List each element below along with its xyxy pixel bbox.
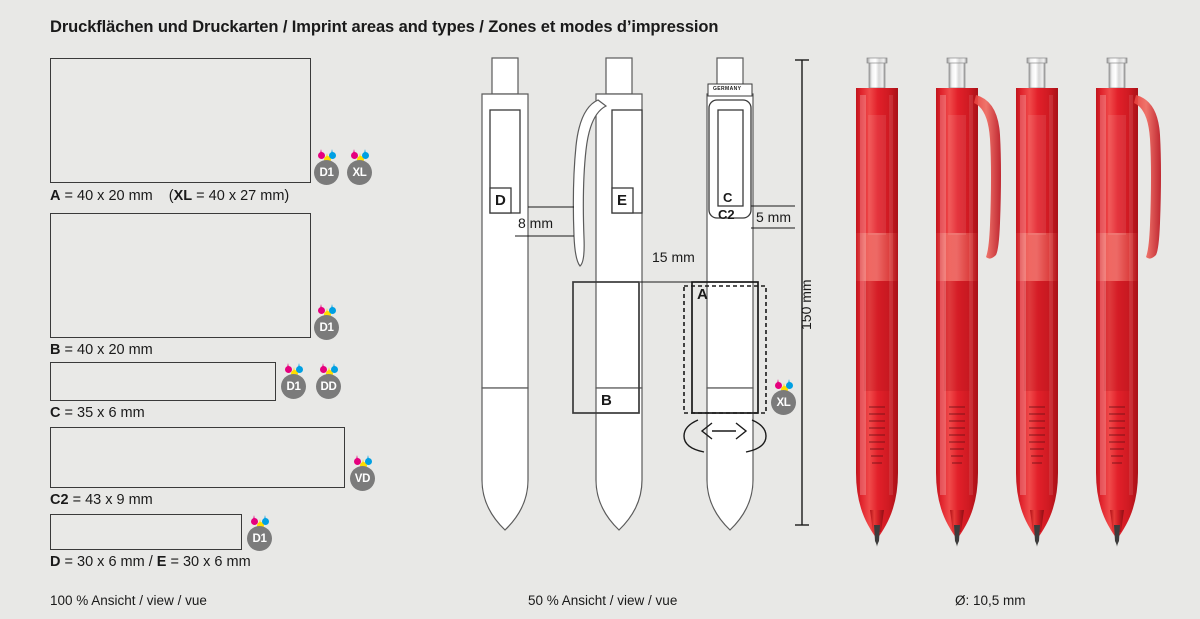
droplet-cyan-icon [329,304,336,314]
label-a-dims: = 40 x 20 mm [60,188,152,204]
dimension-15mm: 15 mm [652,249,695,265]
left-panel-100-percent: A = 40 x 20 mm(XL = 40 x 27 mm) D1 XL B … [0,0,430,619]
label-c-dims: = 35 x 6 mm [60,405,144,421]
label-xl: XL [174,188,193,204]
footer-diameter: Ø: 10,5 mm [955,593,1026,608]
imprint-area-a-caption: A = 40 x 20 mm(XL = 40 x 27 mm) [50,188,289,204]
pen-line-drawings [440,0,840,619]
droplet-cyan-icon [296,363,303,373]
product-render-pen-side-clip-2 [1096,58,1161,547]
label-d: D [50,554,60,570]
red-pen-renders [840,0,1200,619]
area-a-label: A [697,286,708,303]
badge-label: VD [350,466,375,491]
badge-label: D1 [281,374,306,399]
pen3-area-c-label: C [723,190,732,205]
badge-label: DD [316,374,341,399]
pen3-area-c2-label: C2 [718,207,735,222]
imprint-area-c-caption: C = 35 x 6 mm [50,405,145,421]
droplet-cyan-icon [786,379,793,389]
pen2-area-e-label: E [617,192,627,209]
droplet-cyan-icon [262,515,269,525]
label-xl-dims: = 40 x 27 mm) [192,188,289,204]
area-b-label: B [601,392,612,409]
imprint-area-c2-caption: C2 = 43 x 9 mm [50,492,153,508]
badge-xl-area-a[interactable]: XL [347,149,377,185]
product-render-pen-side-clip [936,58,1001,547]
imprint-area-c2-box [50,427,345,488]
label-e-dims: = 30 x 6 mm [166,554,250,570]
footer-scale-100: 100 % Ansicht / view / vue [50,593,207,608]
product-render-pen-back [1016,58,1058,547]
right-panel-product-renders: Ø: 10,5 mm [840,0,1200,619]
droplet-cyan-icon [329,149,336,159]
badge-label: D1 [314,315,339,340]
product-render-pen-front [856,58,898,547]
badge-d1-area-c[interactable]: D1 [281,363,311,399]
pen1-area-d-label: D [495,192,506,209]
badge-d1-area-de[interactable]: D1 [247,515,277,551]
footer-scale-50: 50 % Ansicht / view / vue [528,593,677,608]
imprint-area-c-box [50,362,276,401]
imprint-area-b-box [50,213,311,338]
imprint-area-a-box [50,58,311,183]
label-b: B [50,342,60,358]
badge-label: D1 [247,526,272,551]
badge-label: XL [771,390,796,415]
badge-label: D1 [314,160,339,185]
label-c2: C2 [50,492,69,508]
middle-panel-50-percent: D E C C2 GERMANY B A 8 mm 5 mm 15 mm 150… [440,0,840,619]
label-b-dims: = 40 x 20 mm [60,342,152,358]
badge-vd-area-c2[interactable]: VD [350,455,380,491]
label-a: A [50,188,60,204]
label-c2-dims: = 43 x 9 mm [69,492,153,508]
label-e: E [157,554,167,570]
droplet-cyan-icon [331,363,338,373]
badge-d1-area-a[interactable]: D1 [314,149,344,185]
badge-label: XL [347,160,372,185]
badge-d1-area-b[interactable]: D1 [314,304,344,340]
dimension-150mm: 150 mm [798,279,814,330]
label-c: C [50,405,60,421]
sheet-canvas: Druckflächen und Druckarten / Imprint ar… [0,0,1200,619]
dimension-5mm: 5 mm [756,209,791,225]
dimension-8mm: 8 mm [518,215,553,231]
droplet-cyan-icon [362,149,369,159]
droplet-cyan-icon [365,455,372,465]
badge-dd-area-c[interactable]: DD [316,363,346,399]
imprint-area-b-caption: B = 40 x 20 mm [50,342,153,358]
imprint-area-de-caption: D = 30 x 6 mm / E = 30 x 6 mm [50,554,251,570]
badge-xl-area-a-drawing[interactable]: XL [771,379,801,415]
pen3-germany-text: GERMANY [713,86,741,92]
imprint-area-de-box [50,514,242,550]
label-d-dims: = 30 x 6 mm / [60,554,156,570]
